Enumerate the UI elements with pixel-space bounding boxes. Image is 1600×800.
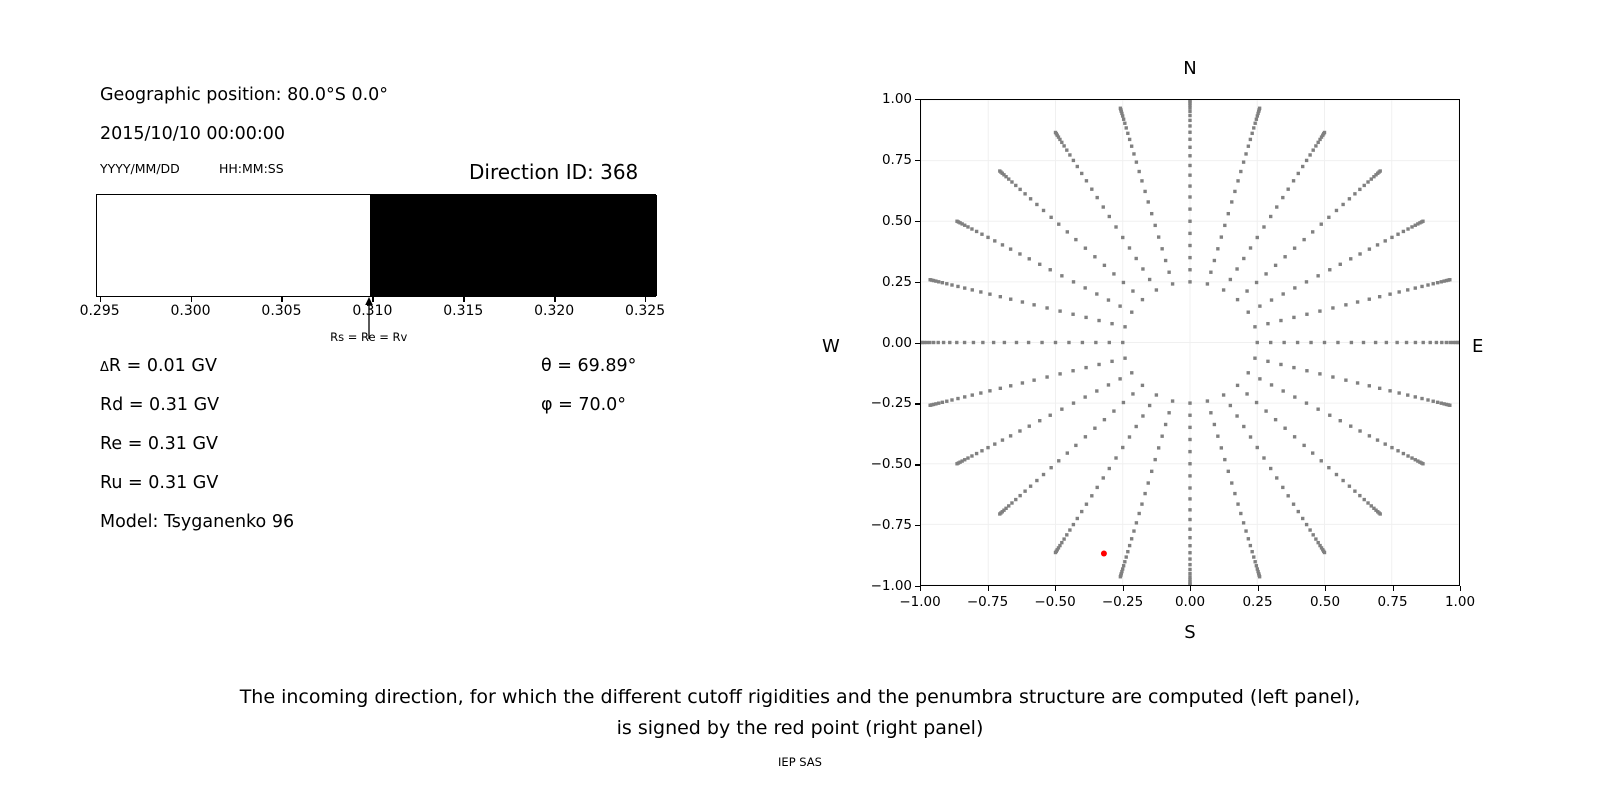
scatter-point [950,283,953,286]
scatter-point [979,391,982,394]
scatter-point [1292,179,1295,182]
scatter-point [1414,341,1417,344]
scatter-point [1318,372,1321,375]
geographic-position-label: Geographic position: 80.0°S 0.0° [100,85,388,105]
scatter-point [1122,118,1125,121]
scatter-point [1147,200,1150,203]
scatter-point [1316,541,1319,544]
x-tick-label: 0.75 [1377,594,1407,610]
scatter-point [1311,451,1314,454]
x-tick-mark [920,586,921,591]
scatter-point [1121,446,1124,449]
scatter-point [1293,246,1296,249]
scatter-point [1066,451,1069,454]
scatter-point [1188,544,1191,547]
scatter-point [1018,252,1021,255]
scatter-point [1132,529,1135,532]
scatter-point [1279,319,1282,322]
scatter-point [1220,235,1223,238]
scatter-point [1316,407,1319,410]
scatter-point [1058,309,1061,312]
scatter-point [1062,537,1065,540]
penumbra-tick-label: 0.300 [170,303,210,319]
scatter-point [1045,306,1048,309]
scatter-point [1110,322,1113,325]
scatter-point [1014,498,1017,501]
scatter-point [1084,246,1087,249]
scatter-point [1128,435,1131,438]
scatter-point [1164,259,1167,262]
scatter-point [1286,494,1289,497]
scatter-point [1421,220,1424,223]
scatter-point [1103,418,1106,421]
y-tick-mark [915,403,920,404]
scatter-point [1107,298,1110,301]
scatter-point [945,400,948,403]
x-tick-mark [1258,586,1259,591]
scatter-point [1084,316,1087,319]
scatter-point [1188,438,1191,441]
scatter-point [1188,583,1191,585]
figure-caption: The incoming direction, for which the di… [0,682,1600,744]
scatter-point [1141,414,1144,417]
scatter-point [1429,341,1432,344]
param-re: Re = 0.31 GV [100,434,218,454]
scatter-point [1132,152,1135,155]
scatter-point [1316,141,1319,144]
scatter-point [1358,252,1361,255]
scatter-point [1242,425,1245,428]
scatter-point [1283,427,1286,430]
scatter-point [1188,508,1191,511]
scatter-point [1085,179,1088,182]
scatter-point [1312,148,1315,151]
scatter-point [928,278,931,281]
scatter-point [1119,575,1122,578]
scatter-point [1147,481,1150,484]
scatter-point [1188,124,1191,127]
scatter-point [1209,271,1212,274]
scatter-point [1049,466,1052,469]
scatter-point [1027,341,1030,344]
scatter-point [1314,144,1317,147]
scatter-point [1135,521,1138,524]
scatter-point [1135,160,1138,163]
scatter-point [1188,207,1191,210]
scatter-point [1227,470,1230,473]
x-tick-label: −0.75 [967,594,1008,610]
scatter-point [1323,341,1326,344]
scatter-point [1312,533,1315,536]
scatter-point [1436,401,1439,404]
scatter-point [1327,216,1330,219]
y-tick-label: 1.00 [856,91,912,107]
scatter-point [955,220,958,223]
scatter-point [1057,459,1060,462]
penumbra-tick-mark [554,297,555,302]
scatter-point [1188,184,1191,187]
scatter-point [1358,429,1361,432]
scatter-point [1123,356,1126,359]
scatter-point [1390,446,1393,449]
scatter-point [1414,395,1417,398]
scatter-point [993,442,996,445]
scatter-point [1405,341,1408,344]
scatter-point [1108,467,1111,470]
scatter-point [1188,195,1191,198]
date-format-hint: YYYY/MM/DD [100,161,180,176]
scatter-point [1130,145,1133,148]
y-tick-mark [915,221,920,222]
scatter-point [1126,550,1129,553]
scatter-point [1323,551,1326,554]
scatter-point [993,239,996,242]
scatter-point [1076,517,1079,520]
scatter-point [948,341,951,344]
scatter-point [980,449,983,452]
scatter-point [998,169,1001,172]
x-tick-mark [1055,586,1056,591]
scatter-point [1188,474,1191,477]
x-tick-mark [1123,586,1124,591]
scatter-point [1220,446,1223,449]
scatter-point [1376,438,1379,441]
scatter-point [1123,325,1126,328]
scatter-point [1188,450,1191,453]
y-tick-mark [915,99,920,100]
param-theta: θ = 69.89° [541,356,636,376]
delta-symbol: Δ [100,360,109,375]
scatter-point [1160,247,1163,250]
scatter-point [1227,212,1230,215]
scatter-point [1292,503,1295,506]
y-tick-label: −1.00 [856,578,912,594]
scatter-point [1137,512,1140,515]
scatter-point [1223,224,1226,227]
scatter-point [1096,196,1099,199]
scatter-point [1363,184,1366,187]
scatter-point [992,341,995,344]
scatter-point [998,512,1001,515]
scatter-point [1448,278,1451,281]
scatter-point [1083,395,1086,398]
scatter-point [1223,458,1226,461]
scatter-point [1421,462,1424,465]
y-tick-mark [915,525,920,526]
scatter-point [1239,170,1242,173]
scatter-point [1235,267,1238,270]
scatter-point [1060,141,1063,144]
scatter-point [1368,384,1371,387]
scatter-point [1292,316,1295,319]
scatter-point [1255,401,1258,404]
scatter-point [1167,411,1170,414]
scatter-point [1348,485,1351,488]
scatter-point [1060,541,1063,544]
scatter-point [963,341,966,344]
scatter-point [1110,360,1113,363]
scatter-point [1125,555,1128,558]
penumbra-tick-label: 0.305 [261,303,301,319]
scatter-point [1054,131,1057,134]
y-tick-label: 0.25 [856,274,912,290]
scatter-point [963,286,966,289]
scatter-point [1103,264,1106,267]
scatter-point [1256,236,1259,239]
param-ru: Ru = 0.31 GV [100,473,218,493]
scatter-point [1003,341,1006,344]
scatter-point [1213,259,1216,262]
scatter-point [1239,512,1242,515]
scatter-point [1135,257,1138,260]
scatter-point [937,341,940,344]
scatter-point [1141,267,1144,270]
scatter-point [1032,378,1035,381]
scatter-point [1130,371,1133,374]
scatter-point [942,341,945,344]
scatter-point [975,452,978,455]
scatter-point [1090,187,1093,190]
scatter-point [1072,159,1075,162]
scatter-point [1001,243,1004,246]
penumbra-tick-label: 0.315 [443,303,483,319]
scatter-point [1155,393,1158,396]
scatter-point [1121,341,1124,344]
scatter-point [1426,398,1429,401]
scatter-point [1028,424,1031,427]
scatter-point [1080,510,1083,513]
scatter-point [1293,435,1296,438]
selected-direction-point [1101,550,1107,556]
scatter-point [1188,518,1191,521]
scatter-point [1233,492,1236,495]
scatter-point [1102,476,1105,479]
param-delta-r: ΔR = 0.01 GV [100,356,217,376]
penumbra-tick-mark [191,297,192,302]
scatter-point [1042,473,1045,476]
scatter-point [986,446,989,449]
scatter-point [1279,363,1282,366]
scatter-point [1350,341,1353,344]
scatter-point [1188,154,1191,157]
scatter-point [1320,459,1323,462]
x-tick-label: −0.50 [1034,594,1075,610]
scatter-point [1128,246,1131,249]
scatter-point [1245,392,1248,395]
scatter-point [1388,292,1391,295]
scatter-point [1066,230,1069,233]
scatter-point [1167,271,1170,274]
scatter-point [1242,521,1245,524]
scatter-point [1074,238,1077,241]
scatter-point [1253,560,1256,563]
scatter-point [1358,494,1361,497]
scatter-point [1327,466,1330,469]
scatter-point [1135,425,1138,428]
scatter-point [1054,551,1057,554]
scatter-point [1045,375,1048,378]
scatter-point [1435,341,1438,344]
scatter-point [1349,424,1352,427]
scatter-point [1188,100,1191,102]
scatter-point [1060,407,1063,410]
scatter-point [1188,268,1191,271]
scatter-point [1426,283,1429,286]
scatter-point [1247,537,1250,540]
scatter-point [921,341,923,344]
penumbra-tick-label: 0.295 [80,303,120,319]
scatter-point [1188,244,1191,247]
param-rd: Rd = 0.31 GV [100,395,219,415]
scatter-point [950,398,953,401]
scatter-point [1023,192,1026,195]
penumbra-bar-chart [96,194,656,297]
penumbra-tick-label: 0.325 [625,303,665,319]
scatter-point [1250,132,1253,135]
scatter-point [1368,434,1371,437]
scatter-point [1378,387,1381,390]
scatter-point [1366,501,1369,504]
scatter-point [1021,381,1024,384]
scatter-point [986,236,989,239]
scatter-point [981,341,984,344]
scatter-point [1384,239,1387,242]
x-tick-mark [988,586,989,591]
scatter-point [1305,313,1308,316]
scatter-point [988,389,991,392]
scatter-point [1076,165,1079,168]
scatter-point [971,393,974,396]
scatter-point [1164,423,1167,426]
scatter-point [1148,404,1151,407]
scatter-point [1123,122,1126,125]
scatter-point [1301,517,1304,520]
scatter-point [1188,146,1191,149]
scatter-point [1014,184,1017,187]
scatter-point [1071,369,1074,372]
scatter-point [1341,203,1344,206]
scatter-point [1097,363,1100,366]
scatter-point [1235,414,1238,417]
scatter-point [1058,372,1061,375]
scatter-point [1018,494,1021,497]
scatter-point [970,227,973,230]
x-tick-label: 1.00 [1445,594,1475,610]
scatter-point [1274,418,1277,421]
direction-id-label: Direction ID: 368 [469,160,638,184]
scatter-point [966,225,969,228]
scatter-point [1042,209,1045,212]
scatter-point [1252,555,1255,558]
scatter-point [1188,280,1191,283]
scatter-point [1153,458,1156,461]
x-tick-label: 0.00 [1175,594,1205,610]
compass-label-north: N [1183,58,1196,79]
scatter-point [1362,341,1365,344]
scatter-point [999,387,1002,390]
scatter-point [1032,303,1035,306]
scatter-point [1049,414,1052,417]
scatter-point [1249,246,1252,249]
scatter-point [1222,288,1225,291]
scatter-point [1302,238,1305,241]
scatter-point [1305,369,1308,372]
scatter-point [1258,575,1261,578]
scatter-point [1085,503,1088,506]
scatter-point [1335,209,1338,212]
scatter-point [1188,462,1191,465]
scatter-point [1230,481,1233,484]
scatter-point [1157,235,1160,238]
scatter-point [1118,377,1121,380]
scatter-point [1293,286,1296,289]
scatter-point [1384,442,1387,445]
scatter-point [1328,414,1331,417]
scatter-point [1275,476,1278,479]
scatter-point [1143,190,1146,193]
scatter-point [1071,313,1074,316]
scatter-point [1148,278,1151,281]
y-tick-label: −0.75 [856,517,912,533]
scatter-point [1074,444,1077,447]
scatter-point [1281,196,1284,199]
penumbra-tick-mark [281,297,282,302]
scatter-point [1255,564,1258,567]
scatter-point [1023,489,1026,492]
scatter-point [1028,257,1031,260]
scatter-point [1095,389,1098,392]
scatter-point [1188,232,1191,235]
y-tick-label: −0.50 [856,456,912,472]
scatter-point [1406,288,1409,291]
scatter-point [1188,164,1191,167]
scatter-point [1356,300,1359,303]
scatter-point [1065,533,1068,536]
scatter-point [999,295,1002,298]
penumbra-tick-mark [645,297,646,302]
scatter-point [1130,310,1133,313]
scatter-point [1302,444,1305,447]
scatter-point [1067,341,1070,344]
x-tick-label: 0.50 [1310,594,1340,610]
scatter-point [1385,341,1388,344]
scatter-point [1314,537,1317,540]
scatter-point [1188,486,1191,489]
scatter-point [1262,225,1265,228]
scatter-point [1242,257,1245,260]
penumbra-forbidden-region [370,195,657,296]
scatter-point [1140,179,1143,182]
scatter-point [1213,423,1216,426]
scatter-point [1084,366,1087,369]
scatter-markers [921,100,1459,585]
scatter-point [1009,247,1012,250]
scatter-point [1188,536,1191,539]
scatter-point [1308,153,1311,156]
x-tick-label: −0.25 [1102,594,1143,610]
scatter-point [1188,551,1191,554]
x-tick-mark [1393,586,1394,591]
scatter-point [1397,290,1400,293]
scatter-point [956,397,959,400]
scatter-point [1395,341,1398,344]
scatter-point [1341,479,1344,482]
scatter-point [1368,247,1371,250]
scatter-point [1049,268,1052,271]
scatter-point [1068,153,1071,156]
y-tick-label: −0.25 [856,395,912,411]
scatter-point [1119,107,1122,110]
